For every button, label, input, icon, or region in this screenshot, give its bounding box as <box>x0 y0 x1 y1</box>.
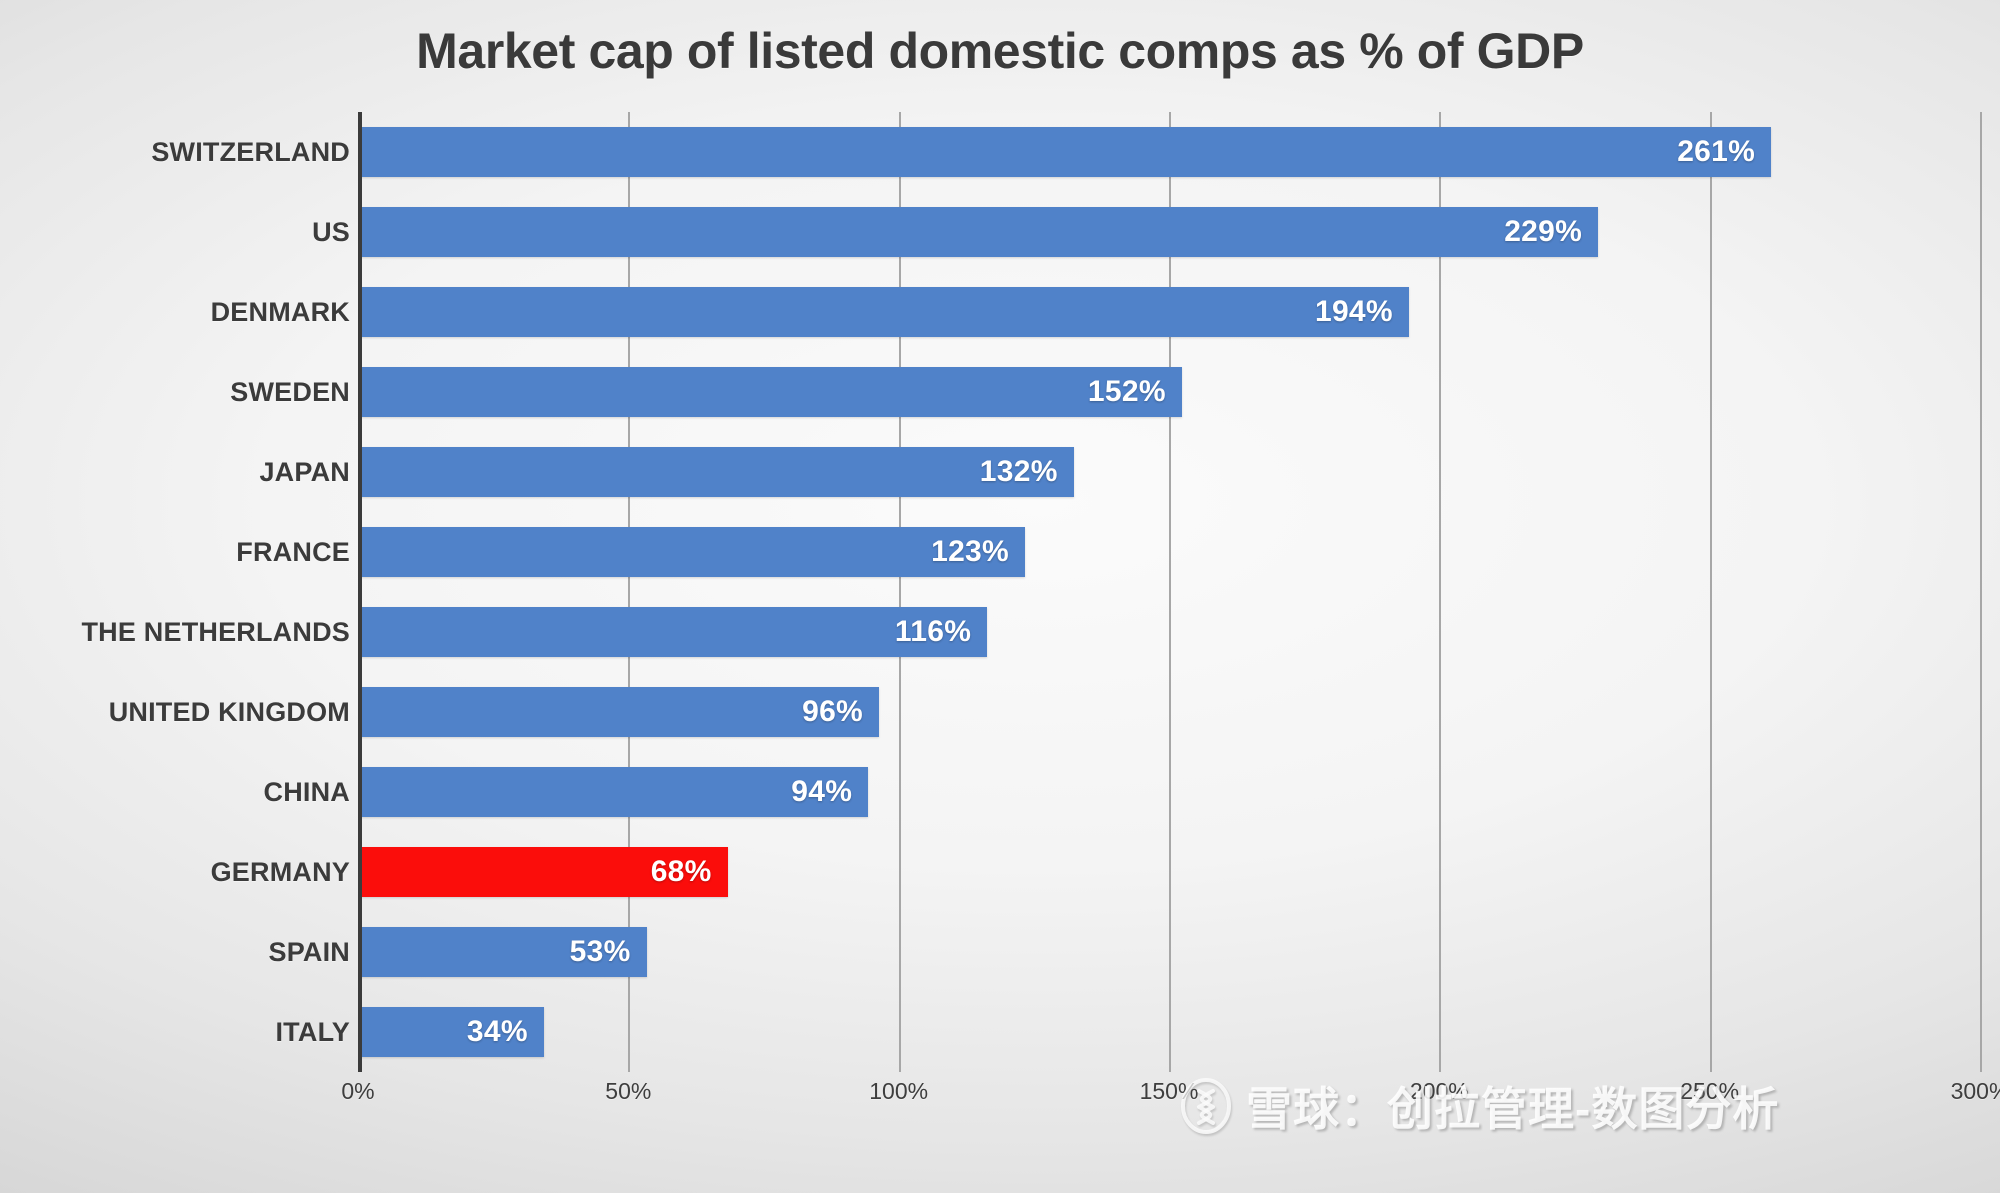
bar-row: UNITED KINGDOM96% <box>0 672 2000 752</box>
bar-value-label: 152% <box>1088 375 1182 409</box>
category-label: GERMANY <box>0 857 350 888</box>
bar-row: GERMANY68% <box>0 832 2000 912</box>
x-tick-label: 150% <box>1140 1078 1199 1105</box>
bar-row: JAPAN132% <box>0 432 2000 512</box>
x-tick-label: 100% <box>869 1078 928 1105</box>
axis-zero-line <box>358 112 362 1072</box>
bar-value-label: 194% <box>1315 295 1409 329</box>
bar-row: DENMARK194% <box>0 272 2000 352</box>
bar[interactable]: 152% <box>360 367 1182 417</box>
chart-title: Market cap of listed domestic comps as %… <box>0 22 2000 80</box>
x-tick-label: 50% <box>605 1078 651 1105</box>
bar-value-label: 116% <box>895 615 987 649</box>
bar[interactable]: 194% <box>360 287 1409 337</box>
bar-row: FRANCE123% <box>0 512 2000 592</box>
bar[interactable]: 116% <box>360 607 987 657</box>
category-label: JAPAN <box>0 457 350 488</box>
bar-row: THE NETHERLANDS116% <box>0 592 2000 672</box>
bar[interactable]: 261% <box>360 127 1771 177</box>
bar-wrapper: 116% <box>360 607 987 657</box>
bar-rows: SWITZERLAND261%US229%DENMARK194%SWEDEN15… <box>0 112 2000 1072</box>
bar[interactable]: 96% <box>360 687 879 737</box>
bar-wrapper: 34% <box>360 1007 544 1057</box>
bar-highlight[interactable]: 68% <box>360 847 728 897</box>
bar-value-label: 34% <box>467 1015 544 1049</box>
bar[interactable]: 229% <box>360 207 1598 257</box>
bar-wrapper: 229% <box>360 207 1598 257</box>
x-tick-label: 0% <box>341 1078 374 1105</box>
bar-value-label: 53% <box>570 935 647 969</box>
bar-wrapper: 194% <box>360 287 1409 337</box>
x-axis: 0%50%100%150%200%250%300% <box>358 1078 1980 1122</box>
bar-row: SWITZERLAND261% <box>0 112 2000 192</box>
x-tick-label: 300% <box>1951 1078 2000 1105</box>
category-label: DENMARK <box>0 297 350 328</box>
bar-wrapper: 132% <box>360 447 1074 497</box>
bar[interactable]: 53% <box>360 927 647 977</box>
bar-row: US229% <box>0 192 2000 272</box>
category-label: SWEDEN <box>0 377 350 408</box>
bar-row: SWEDEN152% <box>0 352 2000 432</box>
bar[interactable]: 132% <box>360 447 1074 497</box>
bar-row: SPAIN53% <box>0 912 2000 992</box>
bar[interactable]: 123% <box>360 527 1025 577</box>
category-label: SPAIN <box>0 937 350 968</box>
bar-wrapper: 53% <box>360 927 647 977</box>
bar-wrapper: 68% <box>360 847 728 897</box>
bar-value-label: 68% <box>651 855 728 889</box>
bar-row: CHINA94% <box>0 752 2000 832</box>
category-label: US <box>0 217 350 248</box>
bar-value-label: 123% <box>931 535 1025 569</box>
category-label: FRANCE <box>0 537 350 568</box>
plot-area: SWITZERLAND261%US229%DENMARK194%SWEDEN15… <box>0 112 2000 1122</box>
bar-wrapper: 261% <box>360 127 1771 177</box>
bar-value-label: 94% <box>791 775 868 809</box>
bar-value-label: 132% <box>980 455 1074 489</box>
bar-wrapper: 96% <box>360 687 879 737</box>
bar-row: ITALY34% <box>0 992 2000 1072</box>
bar-value-label: 261% <box>1677 135 1771 169</box>
bar-wrapper: 123% <box>360 527 1025 577</box>
category-label: THE NETHERLANDS <box>0 617 350 648</box>
bar-value-label: 229% <box>1504 215 1598 249</box>
bar-wrapper: 152% <box>360 367 1182 417</box>
category-label: CHINA <box>0 777 350 808</box>
bar[interactable]: 94% <box>360 767 868 817</box>
bar[interactable]: 34% <box>360 1007 544 1057</box>
bar-value-label: 96% <box>802 695 879 729</box>
x-tick-label: 200% <box>1410 1078 1469 1105</box>
category-label: ITALY <box>0 1017 350 1048</box>
x-tick-label: 250% <box>1680 1078 1739 1105</box>
bar-wrapper: 94% <box>360 767 868 817</box>
category-label: UNITED KINGDOM <box>0 697 350 728</box>
chart-container: Market cap of listed domestic comps as %… <box>0 0 2000 1193</box>
category-label: SWITZERLAND <box>0 137 350 168</box>
